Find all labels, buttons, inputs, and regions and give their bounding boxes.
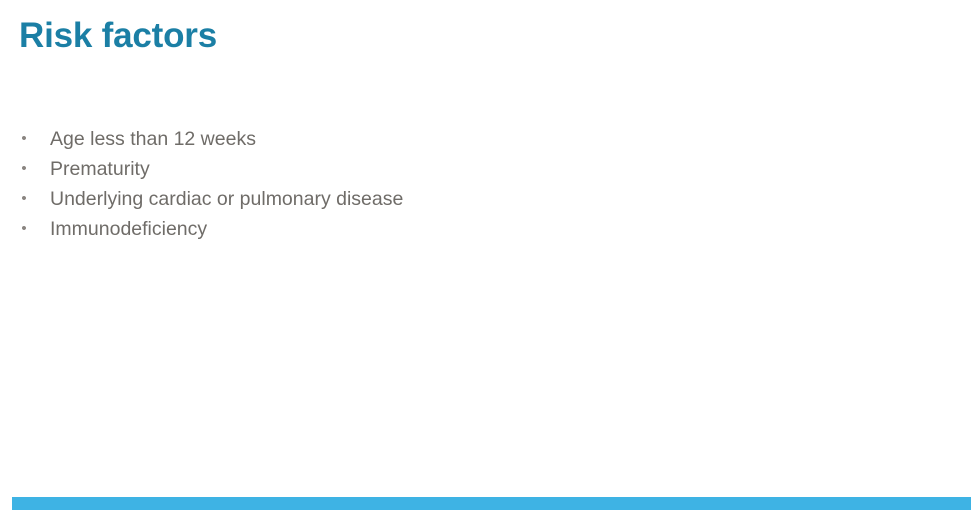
list-item-label: Prematurity — [50, 154, 150, 184]
list-item: • Underlying cardiac or pulmonary diseas… — [16, 184, 916, 214]
list-item-label: Underlying cardiac or pulmonary disease — [50, 184, 403, 214]
bullet-list: • Age less than 12 weeks • Prematurity •… — [16, 124, 916, 244]
list-item: • Prematurity — [16, 154, 916, 184]
bullet-dot-icon: • — [19, 124, 29, 154]
list-item-label: Immunodeficiency — [50, 214, 207, 244]
slide: Risk factors • Age less than 12 weeks • … — [0, 0, 971, 516]
bullet-dot-icon: • — [19, 184, 29, 214]
page-title: Risk factors — [19, 14, 919, 58]
list-item: • Age less than 12 weeks — [16, 124, 916, 154]
bottom-accent-bar — [12, 497, 971, 510]
bullet-dot-icon: • — [19, 154, 29, 184]
list-item: • Immunodeficiency — [16, 214, 916, 244]
bullet-dot-icon: • — [19, 214, 29, 244]
list-item-label: Age less than 12 weeks — [50, 124, 256, 154]
